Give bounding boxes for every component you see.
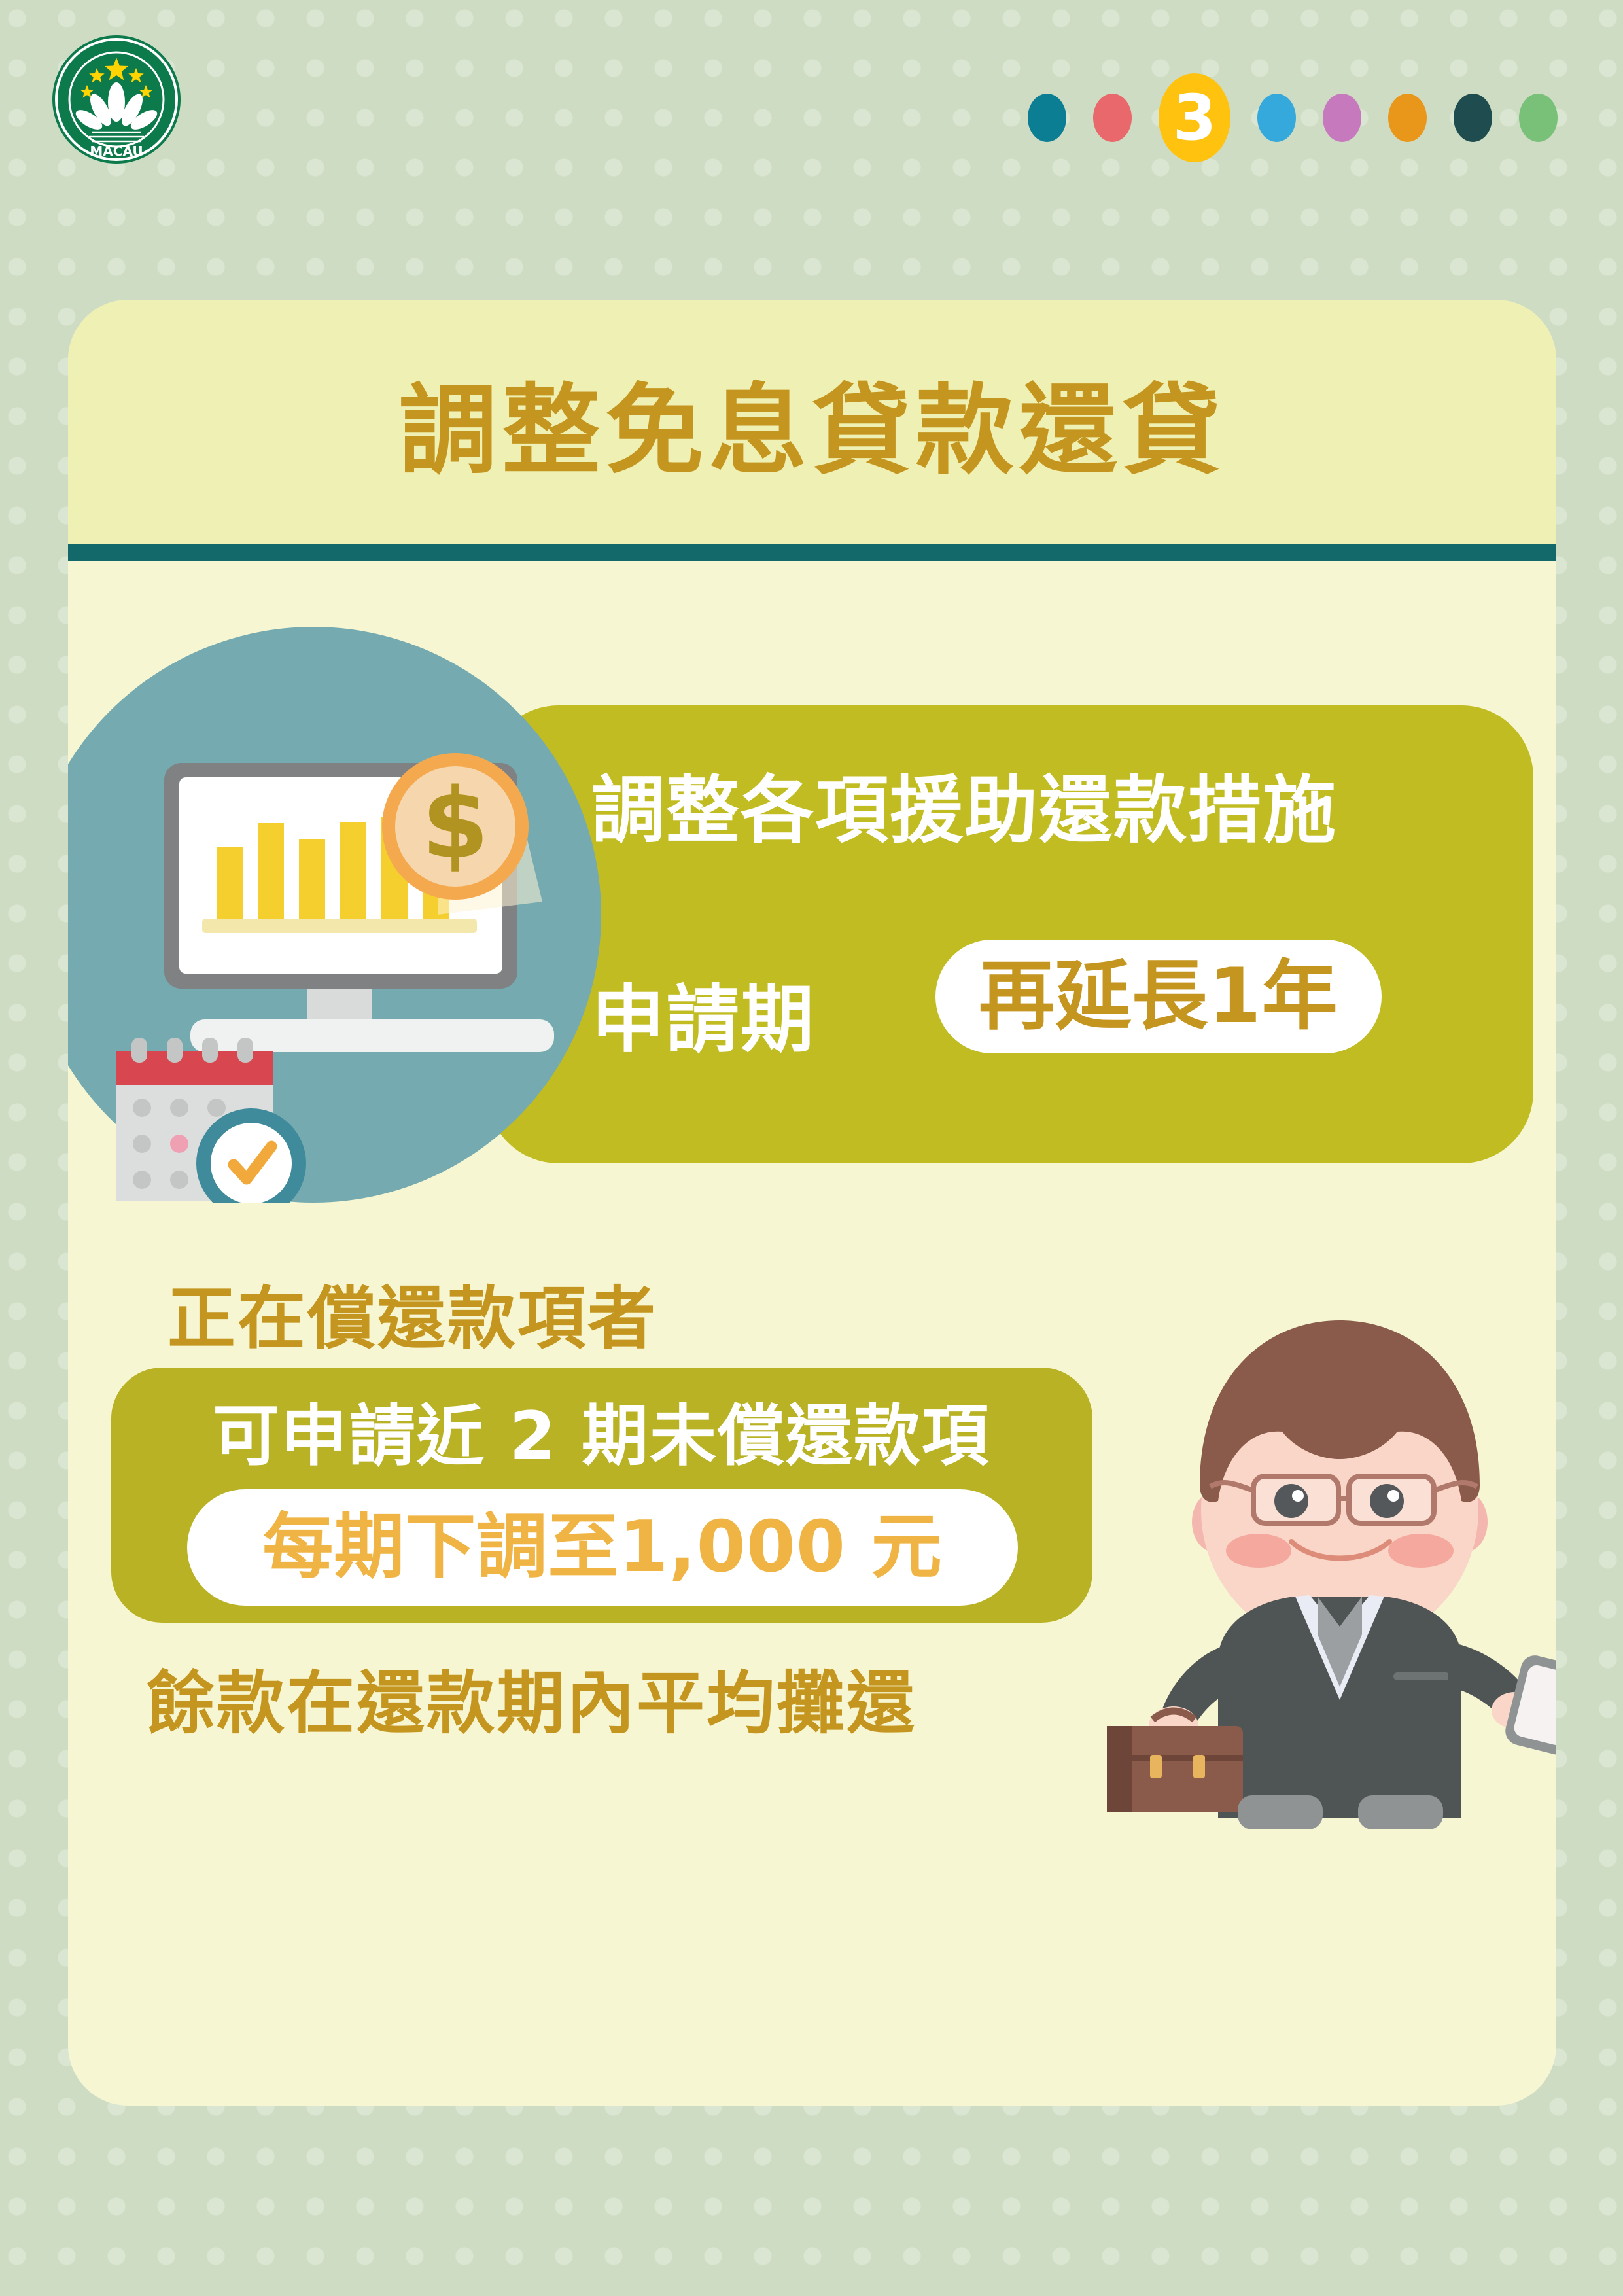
emblem-wordmark: MACAU: [90, 143, 143, 159]
step-dot-7[interactable]: [1454, 94, 1492, 142]
reduced-amount-text: 每期下調至1,000 元: [262, 1512, 942, 1583]
step-dot-6[interactable]: [1388, 94, 1427, 142]
page-title: 調整免息貸款還貸: [398, 351, 1225, 493]
title-divider: [68, 544, 1556, 561]
step-dot-4[interactable]: [1257, 94, 1296, 142]
step-dot-2[interactable]: [1093, 94, 1132, 142]
briefcase-icon: [1107, 1711, 1243, 1812]
step-dot-8[interactable]: [1519, 94, 1558, 142]
step-dot-1[interactable]: [1028, 94, 1066, 142]
step-dot-3-active[interactable]: 3: [1159, 73, 1230, 162]
reduced-amount-badge: 每期下調至1,000 元: [187, 1489, 1018, 1606]
macau-sar-emblem: MACAU: [51, 34, 182, 165]
content-card: 調整免息貸款還貸: [68, 300, 1556, 2106]
banner-line-2-label: 申請期: [591, 961, 815, 1067]
dollar-coin-icon: $: [382, 753, 529, 900]
repayment-detail-line: 可申請近 2 期未償還款項: [147, 1383, 1056, 1479]
repaying-heading: 正在償還款項者: [167, 1263, 657, 1362]
step-dot-5[interactable]: [1323, 94, 1361, 142]
monitor-bar-chart-illustration: $: [68, 627, 621, 1203]
step-number: 3: [1173, 86, 1217, 149]
step-indicator[interactable]: 3: [1028, 79, 1558, 157]
remaining-balance-note: 餘款在還款期內平均攤還: [147, 1648, 916, 1746]
poster-root: MACAU 3 調整免息貸款還貸: [0, 0, 1623, 2296]
svg-text:$: $: [422, 768, 489, 880]
banner-line-1: 調整各項援助還款措施: [591, 751, 1337, 857]
card-header: 調整免息貸款還貸: [68, 300, 1556, 544]
extend-period-badge: 再延長1年: [935, 940, 1382, 1053]
businessman-illustration: [1102, 1268, 1556, 1922]
extend-period-text: 再延長1年: [979, 954, 1338, 1039]
